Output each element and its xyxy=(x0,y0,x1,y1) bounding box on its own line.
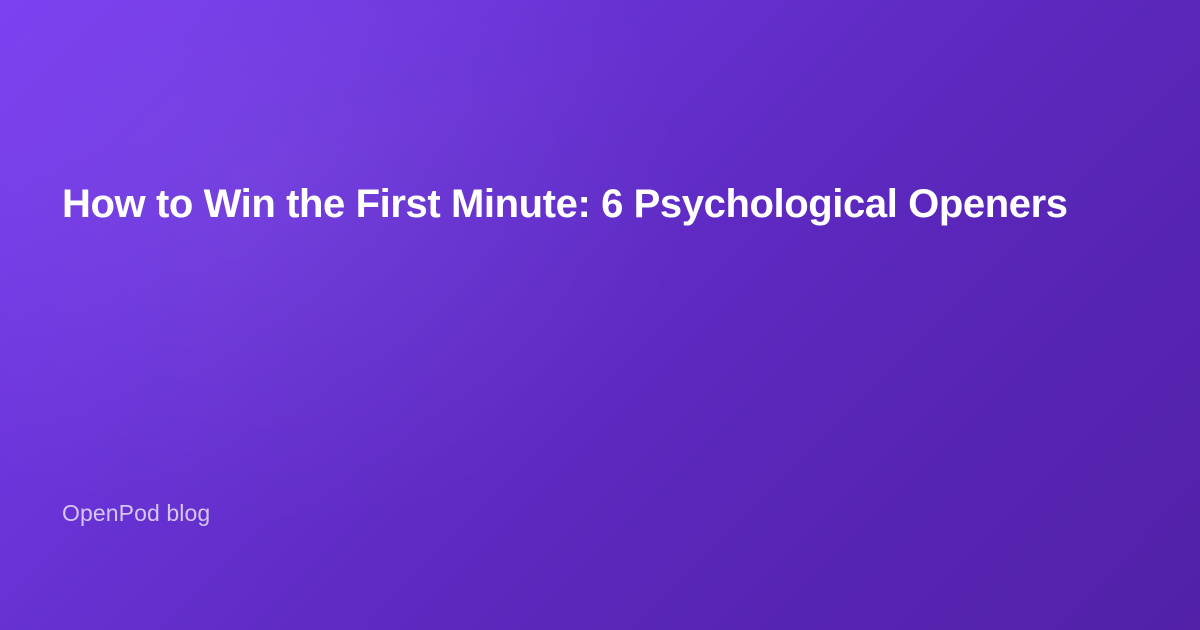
page-title: How to Win the First Minute: 6 Psycholog… xyxy=(62,178,1072,230)
background-glow xyxy=(0,0,700,540)
title-block: How to Win the First Minute: 6 Psycholog… xyxy=(62,178,1072,230)
social-share-card: How to Win the First Minute: 6 Psycholog… xyxy=(0,0,1200,630)
brand-label: OpenPod blog xyxy=(62,498,210,528)
brand-block: OpenPod blog xyxy=(62,498,210,528)
